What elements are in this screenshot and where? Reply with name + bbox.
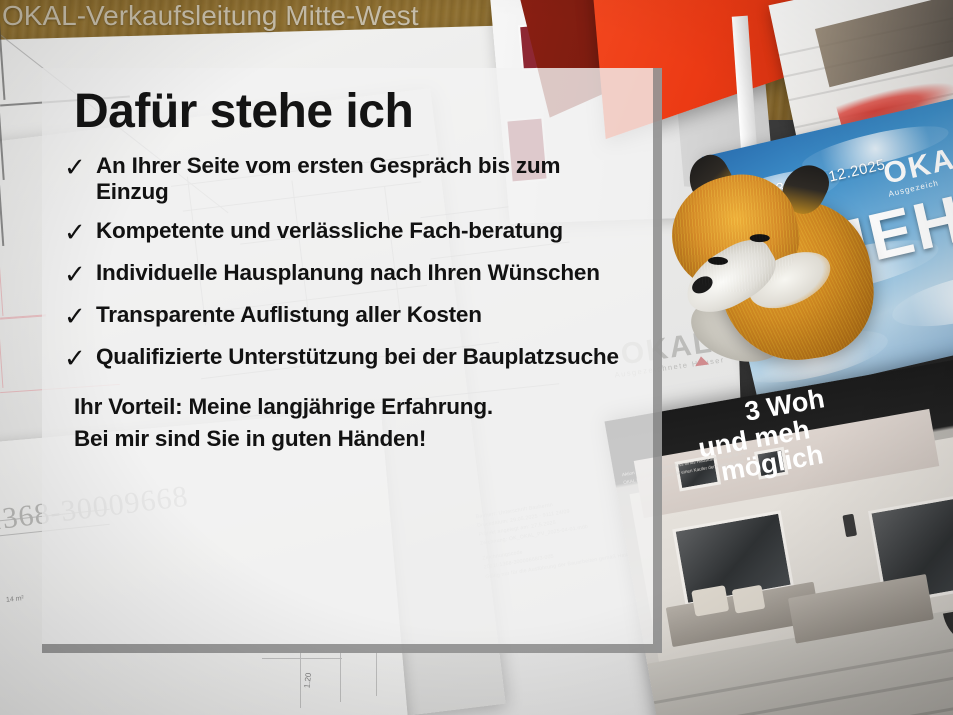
checkmark-icon: ✓ [60, 344, 96, 374]
checkmark-icon: ✓ [60, 218, 96, 248]
fox-plush-figurine [666, 150, 876, 365]
list-item-label: Kompetente und verlässliche Fach-beratun… [96, 218, 563, 245]
closing-line-1: Ihr Vorteil: Meine langjährige Erfahrung… [74, 391, 629, 423]
page-title: OKAL-Verkaufsleitung Mitte-West [2, 0, 419, 32]
checkmark-icon: ✓ [60, 260, 96, 290]
brochure-wall-lamp-icon [842, 514, 857, 538]
list-item-label: Qualifizierte Unterstützung bei der Baup… [96, 344, 619, 371]
blueprint-dimension-label: 1.20 [302, 672, 313, 689]
list-item: ✓ Kompetente und verlässliche Fach-berat… [60, 218, 629, 248]
closing-line-2: Bei mir sind Sie in guten Händen! [74, 423, 629, 455]
benefit-list: ✓ An Ihrer Seite vom ersten Gespräch bis… [60, 153, 629, 374]
content-panel: Dafür stehe ich ✓ An Ihrer Seite vom ers… [42, 68, 662, 653]
list-item: ✓ Individuelle Hausplanung nach Ihren Wü… [60, 260, 629, 290]
checkmark-icon: ✓ [60, 302, 96, 332]
list-item: ✓ Qualifizierte Unterstützung bei der Ba… [60, 344, 629, 374]
list-item: ✓ Transparente Auflistung aller Kosten [60, 302, 629, 332]
slide-canvas: 1368-30009668 14 m² 1.20 Bauherr: Unters… [0, 0, 953, 715]
list-item: ✓ An Ihrer Seite vom ersten Gespräch bis… [60, 153, 629, 206]
list-item-label: An Ihrer Seite vom ersten Gespräch bis z… [96, 153, 629, 206]
brochure-cushion-2 [732, 585, 766, 614]
checkmark-icon: ✓ [60, 153, 96, 183]
list-item-label: Individuelle Hausplanung nach Ihren Wüns… [96, 260, 600, 287]
fox-eye-left [708, 257, 728, 266]
closing-statement: Ihr Vorteil: Meine langjährige Erfahrung… [74, 391, 629, 455]
panel-heading: Dafür stehe ich [74, 86, 629, 139]
list-item-label: Transparente Auflistung aller Kosten [96, 302, 482, 329]
fox-eye-right [750, 234, 770, 242]
